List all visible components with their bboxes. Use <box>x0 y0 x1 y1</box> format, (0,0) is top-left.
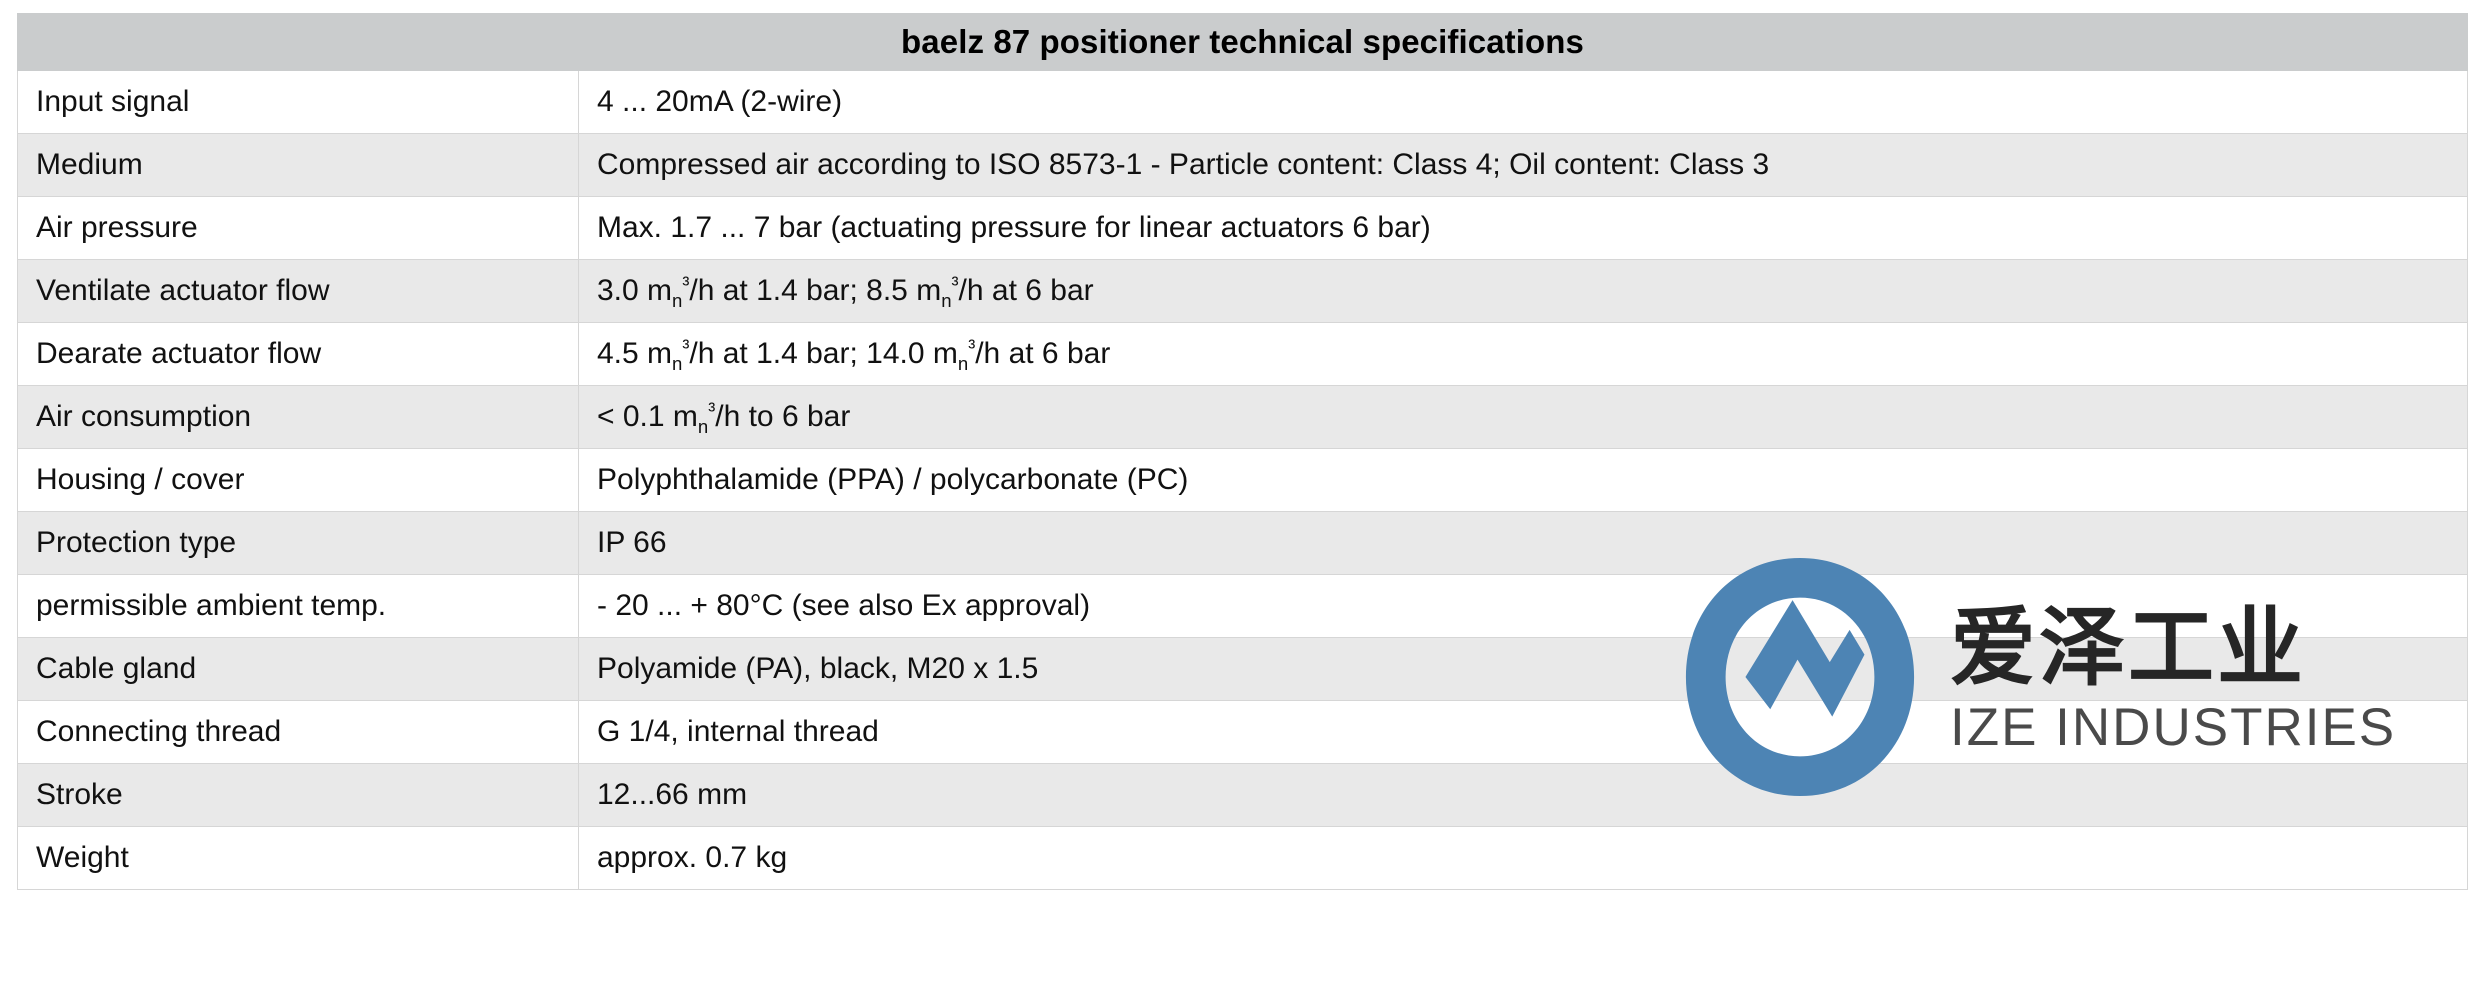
spec-label: Cable gland <box>18 638 579 701</box>
spec-value: IP 66 <box>579 512 2468 575</box>
spec-value: 4.5 mn³/h at 1.4 bar; 14.0 mn³/h at 6 ba… <box>579 323 2468 386</box>
spec-value: Compressed air according to ISO 8573-1 -… <box>579 134 2468 197</box>
table-row: Air consumption< 0.1 mn³/h to 6 bar <box>18 386 2468 449</box>
spec-label: Medium <box>18 134 579 197</box>
spec-value: 4 ... 20mA (2-wire) <box>579 71 2468 134</box>
spec-label: Stroke <box>18 764 579 827</box>
table-title: baelz 87 positioner technical specificat… <box>18 14 2468 71</box>
table-row: Dearate actuator flow4.5 mn³/h at 1.4 ba… <box>18 323 2468 386</box>
table-row: Connecting threadG 1/4, internal thread <box>18 701 2468 764</box>
spec-value: - 20 ... + 80°C (see also Ex approval) <box>579 575 2468 638</box>
table-row: Stroke12...66 mm <box>18 764 2468 827</box>
spec-label: Input signal <box>18 71 579 134</box>
spec-value: Max. 1.7 ... 7 bar (actuating pressure f… <box>579 197 2468 260</box>
spec-value: < 0.1 mn³/h to 6 bar <box>579 386 2468 449</box>
table-row: Ventilate actuator flow3.0 mn³/h at 1.4 … <box>18 260 2468 323</box>
table-row: Cable glandPolyamide (PA), black, M20 x … <box>18 638 2468 701</box>
spec-sheet-page: baelz 87 positioner technical specificat… <box>0 0 2481 992</box>
table-row: Housing / coverPolyphthalamide (PPA) / p… <box>18 449 2468 512</box>
table-row: Weightapprox. 0.7 kg <box>18 827 2468 890</box>
spec-value: 12...66 mm <box>579 764 2468 827</box>
spec-value: G 1/4, internal thread <box>579 701 2468 764</box>
spec-label: Dearate actuator flow <box>18 323 579 386</box>
spec-label: Air pressure <box>18 197 579 260</box>
spec-value: 3.0 mn³/h at 1.4 bar; 8.5 mn³/h at 6 bar <box>579 260 2468 323</box>
table-row: Input signal4 ... 20mA (2-wire) <box>18 71 2468 134</box>
table-row: MediumCompressed air according to ISO 85… <box>18 134 2468 197</box>
spec-value: approx. 0.7 kg <box>579 827 2468 890</box>
spec-label: permissible ambient temp. <box>18 575 579 638</box>
table-body: Input signal4 ... 20mA (2-wire)MediumCom… <box>18 71 2468 890</box>
spec-label: Protection type <box>18 512 579 575</box>
table-header: baelz 87 positioner technical specificat… <box>18 14 2468 71</box>
spec-label: Connecting thread <box>18 701 579 764</box>
spec-label: Housing / cover <box>18 449 579 512</box>
table-row: permissible ambient temp.- 20 ... + 80°C… <box>18 575 2468 638</box>
spec-label: Weight <box>18 827 579 890</box>
spec-label: Ventilate actuator flow <box>18 260 579 323</box>
spec-value: Polyamide (PA), black, M20 x 1.5 <box>579 638 2468 701</box>
technical-specifications-table: baelz 87 positioner technical specificat… <box>17 13 2468 890</box>
table-row: Air pressureMax. 1.7 ... 7 bar (actuatin… <box>18 197 2468 260</box>
spec-label: Air consumption <box>18 386 579 449</box>
table-title-row: baelz 87 positioner technical specificat… <box>18 14 2468 71</box>
table-row: Protection typeIP 66 <box>18 512 2468 575</box>
spec-value: Polyphthalamide (PPA) / polycarbonate (P… <box>579 449 2468 512</box>
